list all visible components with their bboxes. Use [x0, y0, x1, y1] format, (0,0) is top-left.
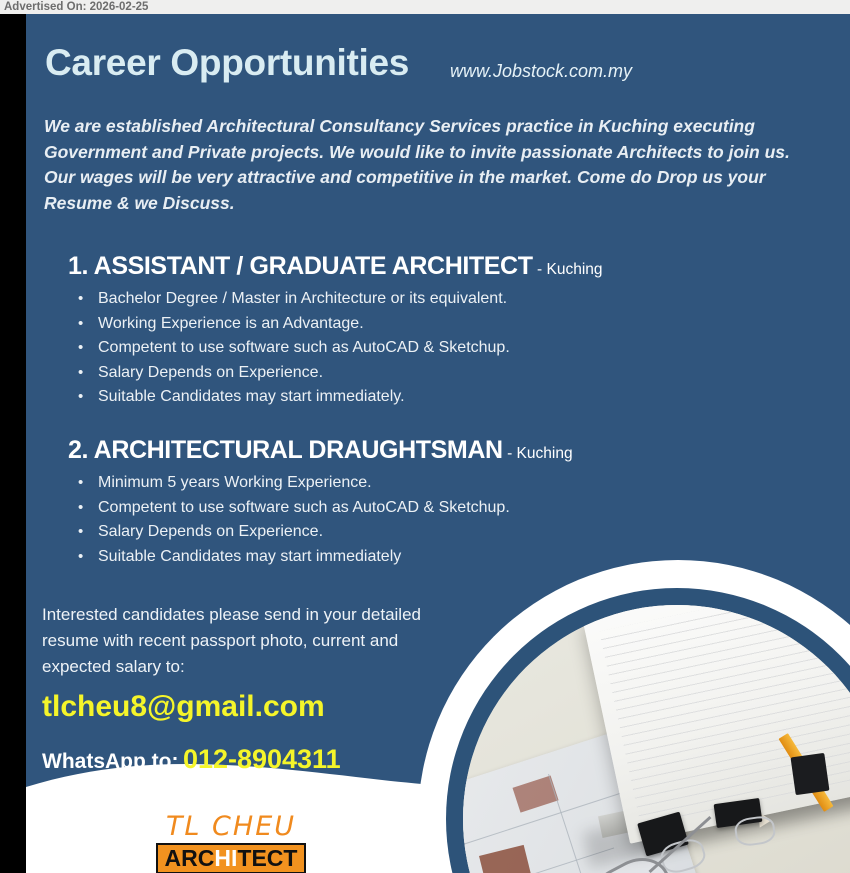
- list-item: •Competent to use software such as AutoC…: [68, 496, 573, 521]
- logo-word-part-2: HI: [214, 845, 237, 871]
- left-gutter: [0, 14, 26, 873]
- job-2-requirements: •Minimum 5 years Working Experience. •Co…: [68, 471, 573, 569]
- requirement-text: Salary Depends on Experience.: [98, 523, 323, 540]
- list-item: •Suitable Candidates may start immediate…: [68, 385, 603, 410]
- bullet-icon: •: [78, 361, 83, 386]
- bullet-icon: •: [78, 520, 83, 545]
- binder-clip-3: [791, 753, 830, 795]
- list-item: •Minimum 5 years Working Experience.: [68, 471, 573, 496]
- bullet-icon: •: [78, 471, 83, 496]
- list-item: •Working Experience is an Advantage.: [68, 312, 603, 337]
- list-item: •Suitable Candidates may start immediate…: [68, 545, 573, 570]
- job-advertisement-poster: Advertised On: 2026-02-25: [0, 0, 850, 873]
- logo-architect-badge: ARCHITECT: [156, 843, 307, 873]
- job-1-heading: 1. ASSISTANT / GRADUATE ARCHITECT - Kuch…: [68, 252, 603, 281]
- application-instructions: Interested candidates please send in you…: [42, 602, 442, 680]
- job-1-requirements: •Bachelor Degree / Master in Architectur…: [68, 287, 603, 410]
- list-item: •Competent to use software such as AutoC…: [68, 336, 603, 361]
- job-2-heading: 2. ARCHITECTURAL DRAUGHTSMAN - Kuching: [68, 436, 573, 465]
- whatsapp-label: WhatsApp to:: [42, 750, 178, 773]
- requirement-text: Salary Depends on Experience.: [98, 364, 323, 381]
- job-2-title: 2. ARCHITECTURAL DRAUGHTSMAN: [68, 436, 503, 464]
- job-1-title: 1. ASSISTANT / GRADUATE ARCHITECT: [68, 252, 533, 280]
- bullet-icon: •: [78, 312, 83, 337]
- job-2-location: - Kuching: [507, 445, 572, 462]
- company-logo: TL CHEU ARCHITECT: [126, 812, 336, 873]
- list-item: •Salary Depends on Experience.: [68, 361, 603, 386]
- requirement-text: Suitable Candidates may start immediatel…: [98, 548, 401, 565]
- bullet-icon: •: [78, 385, 83, 410]
- requirement-text: Suitable Candidates may start immediatel…: [98, 388, 405, 405]
- bullet-icon: •: [78, 336, 83, 361]
- list-item: •Bachelor Degree / Master in Architectur…: [68, 287, 603, 312]
- job-1-location: - Kuching: [537, 261, 602, 278]
- poster-canvas: Career Opportunities www.Jobstock.com.my…: [26, 14, 850, 873]
- job-listing-1: 1. ASSISTANT / GRADUATE ARCHITECT - Kuch…: [68, 252, 603, 410]
- list-item: •Salary Depends on Experience.: [68, 520, 573, 545]
- bullet-icon: •: [78, 287, 83, 312]
- logo-word-part-3: TECT: [237, 845, 297, 871]
- requirement-text: Working Experience is an Advantage.: [98, 315, 364, 332]
- requirement-text: Minimum 5 years Working Experience.: [98, 474, 372, 491]
- bullet-icon: •: [78, 545, 83, 570]
- intro-paragraph: We are established Architectural Consult…: [44, 114, 804, 216]
- bullet-icon: •: [78, 496, 83, 521]
- desk-photo: [463, 605, 850, 873]
- website-url: www.Jobstock.com.my: [450, 61, 632, 82]
- contact-email[interactable]: tlcheu8@gmail.com: [42, 690, 325, 724]
- requirement-text: Competent to use software such as AutoCA…: [98, 499, 510, 516]
- whatsapp-row: WhatsApp to: 012-8904311: [42, 744, 341, 775]
- logo-company-name: TL CHEU: [126, 812, 336, 842]
- advertised-on-bar: Advertised On: 2026-02-25: [0, 0, 850, 14]
- requirement-text: Bachelor Degree / Master in Architecture…: [98, 290, 507, 307]
- page-title: Career Opportunities: [45, 42, 409, 84]
- logo-word-part-1: ARC: [165, 845, 215, 871]
- job-listing-2: 2. ARCHITECTURAL DRAUGHTSMAN - Kuching •…: [68, 436, 573, 569]
- whatsapp-number[interactable]: 012-8904311: [183, 744, 341, 774]
- advertised-on-text: Advertised On: 2026-02-25: [4, 0, 148, 14]
- requirement-text: Competent to use software such as AutoCA…: [98, 339, 510, 356]
